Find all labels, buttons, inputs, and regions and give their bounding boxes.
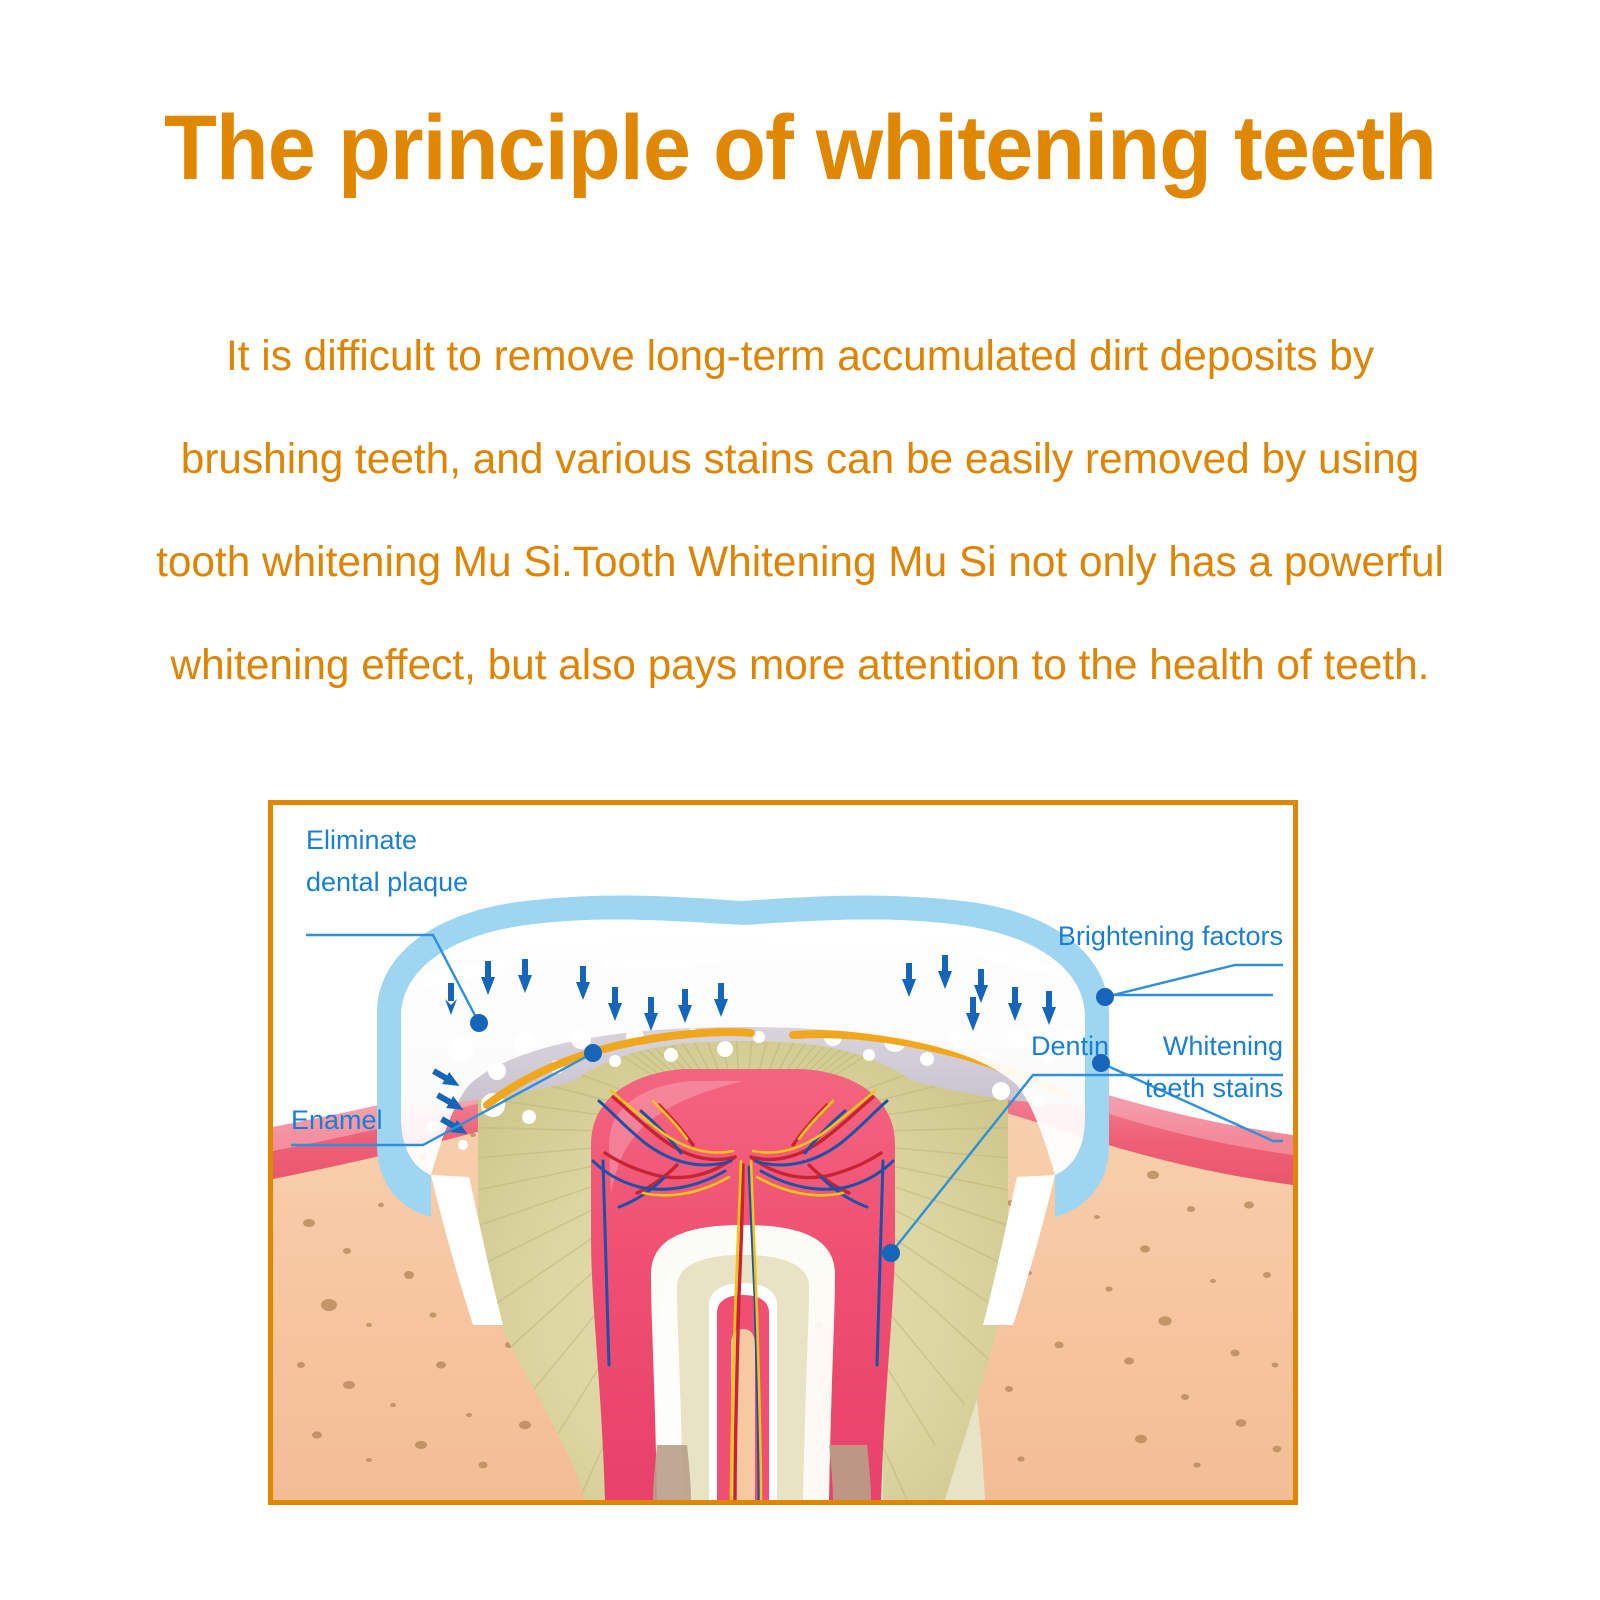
dot-eliminate-dental-plaque bbox=[470, 1014, 488, 1032]
label-enamel: Enamel bbox=[291, 1105, 383, 1135]
intro-line-4: whitening effect, but also pays more att… bbox=[106, 614, 1495, 717]
intro-line-3: tooth whitening Mu Si.Tooth Whitening Mu… bbox=[106, 511, 1495, 614]
intro-line-2: brushing teeth, and various stains can b… bbox=[106, 408, 1495, 511]
intro-paragraph: It is difficult to remove long-term accu… bbox=[106, 305, 1495, 717]
label-whitening-teeth-stains-line2: teeth stains bbox=[1145, 1073, 1283, 1103]
dot-dentin bbox=[882, 1244, 900, 1262]
label-brightening-factors: Brightening factors bbox=[1058, 921, 1283, 951]
label-eliminate-dental-plaque-line1: Eliminate bbox=[306, 825, 417, 855]
pulp-chamber bbox=[591, 1069, 895, 1500]
dot-brightening-factors bbox=[1096, 988, 1114, 1006]
tooth-diagram-frame: Eliminate dental plaque Brightening fact… bbox=[268, 800, 1298, 1505]
page-title: The principle of whitening teeth bbox=[48, 96, 1552, 200]
intro-line-1: It is difficult to remove long-term accu… bbox=[106, 305, 1495, 408]
dot-enamel bbox=[584, 1044, 602, 1062]
tooth-anatomy-illustration: Eliminate dental plaque Brightening fact… bbox=[273, 805, 1293, 1500]
label-dentin: Dentin bbox=[1031, 1031, 1109, 1061]
leader-brightening-factors bbox=[1105, 965, 1283, 997]
label-eliminate-dental-plaque-line2: dental plaque bbox=[306, 867, 468, 897]
label-whitening-teeth-stains-line1: Whitening bbox=[1163, 1031, 1283, 1061]
